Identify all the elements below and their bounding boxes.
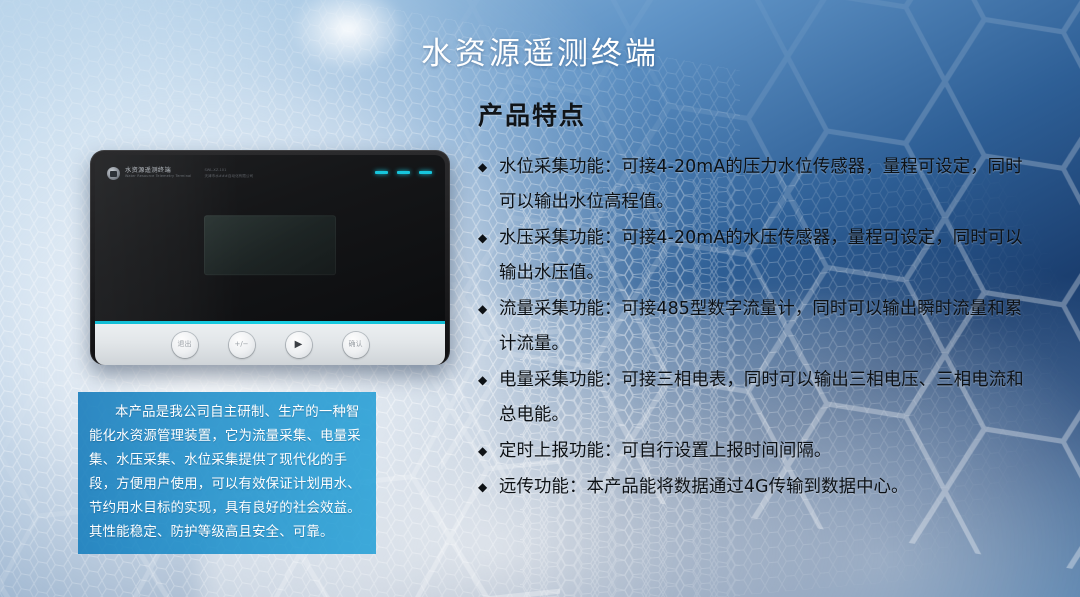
confirm-button[interactable]: 确认 <box>343 332 369 358</box>
feature-item: ◆ 水位采集功能：可接4-20mA的压力水位传感器，量程可设定，同时可以输出水位… <box>478 150 1038 220</box>
diamond-bullet-icon: ◆ <box>478 292 487 327</box>
diamond-bullet-icon: ◆ <box>478 434 487 469</box>
device-model-label: SWL-XZ-101 <box>204 169 253 173</box>
exit-button[interactable]: 退出 <box>172 332 198 358</box>
feature-item-text: 水压采集功能：可接4-20mA的水压传感器，量程可设定，同时可以输出水压值。 <box>499 228 1023 283</box>
feature-heading: 产品特点 <box>478 96 1038 132</box>
feature-item: ◆ 电量采集功能：可接三相电表，同时可以输出三相电压、三相电流和总电能。 <box>478 363 1038 433</box>
feature-item-text: 流量采集功能：可接485型数字流量计，同时可以输出瞬时流量和累计流量。 <box>499 299 1022 354</box>
feature-list: ◆ 水位采集功能：可接4-20mA的压力水位传感器，量程可设定，同时可以输出水位… <box>478 150 1038 505</box>
feature-item-text: 定时上报功能：可自行设置上报时间间隔。 <box>499 441 831 461</box>
diamond-bullet-icon: ◆ <box>478 221 487 256</box>
device-lcd-panel <box>204 215 336 275</box>
device-brand-block: 水资源遥测终端 Water Resource Telemetry Termina… <box>107 167 253 180</box>
plus-minus-button[interactable]: +/− <box>229 332 255 358</box>
diamond-bullet-icon: ◆ <box>478 470 487 505</box>
company-logo-icon <box>107 167 120 180</box>
device-button-panel: 退出 +/− ▶ 确认 <box>95 324 445 365</box>
device-illustration: 水资源遥测终端 Water Resource Telemetry Termina… <box>90 150 450 365</box>
device-brand-subtitle: Water Resource Telemetry Terminal <box>125 175 191 178</box>
feature-section: 产品特点 ◆ 水位采集功能：可接4-20mA的压力水位传感器，量程可设定，同时可… <box>478 96 1038 506</box>
feature-item: ◆ 水压采集功能：可接4-20mA的水压传感器，量程可设定，同时可以输出水压值。 <box>478 221 1038 291</box>
slide-canvas: 水资源遥测终端 水资源遥测终端 Water Resource Telemetry… <box>0 0 1080 597</box>
play-button[interactable]: ▶ <box>286 332 312 358</box>
feature-item-text: 水位采集功能：可接4-20mA的压力水位传感器，量程可设定，同时可以输出水位高程… <box>499 157 1023 212</box>
device-screen: 水资源遥测终端 Water Resource Telemetry Termina… <box>95 155 445 321</box>
page-title: 水资源遥测终端 <box>0 28 1080 73</box>
feature-item-text: 电量采集功能：可接三相电表，同时可以输出三相电压、三相电流和总电能。 <box>499 370 1024 425</box>
product-description-box: 本产品是我公司自主研制、生产的一种智能化水资源管理装置，它为流量采集、电量采集、… <box>78 392 376 554</box>
status-led-icon <box>375 171 388 174</box>
feature-item: ◆ 流量采集功能：可接485型数字流量计，同时可以输出瞬时流量和累计流量。 <box>478 292 1038 362</box>
status-led-icon <box>419 171 432 174</box>
feature-item: ◆ 定时上报功能：可自行设置上报时间间隔。 <box>478 434 1038 469</box>
diamond-bullet-icon: ◆ <box>478 150 487 185</box>
device-company-label: 天津市水###自动化有限公司 <box>204 175 253 179</box>
product-description-text: 本产品是我公司自主研制、生产的一种智能化水资源管理装置，它为流量采集、电量采集、… <box>89 401 365 545</box>
status-led-icon <box>397 171 410 174</box>
feature-item-text: 远传功能：本产品能将数据通过4G传输到数据中心。 <box>499 477 909 497</box>
feature-item: ◆ 远传功能：本产品能将数据通过4G传输到数据中心。 <box>478 470 1038 505</box>
device-led-group <box>375 171 432 174</box>
diamond-bullet-icon: ◆ <box>478 363 487 398</box>
